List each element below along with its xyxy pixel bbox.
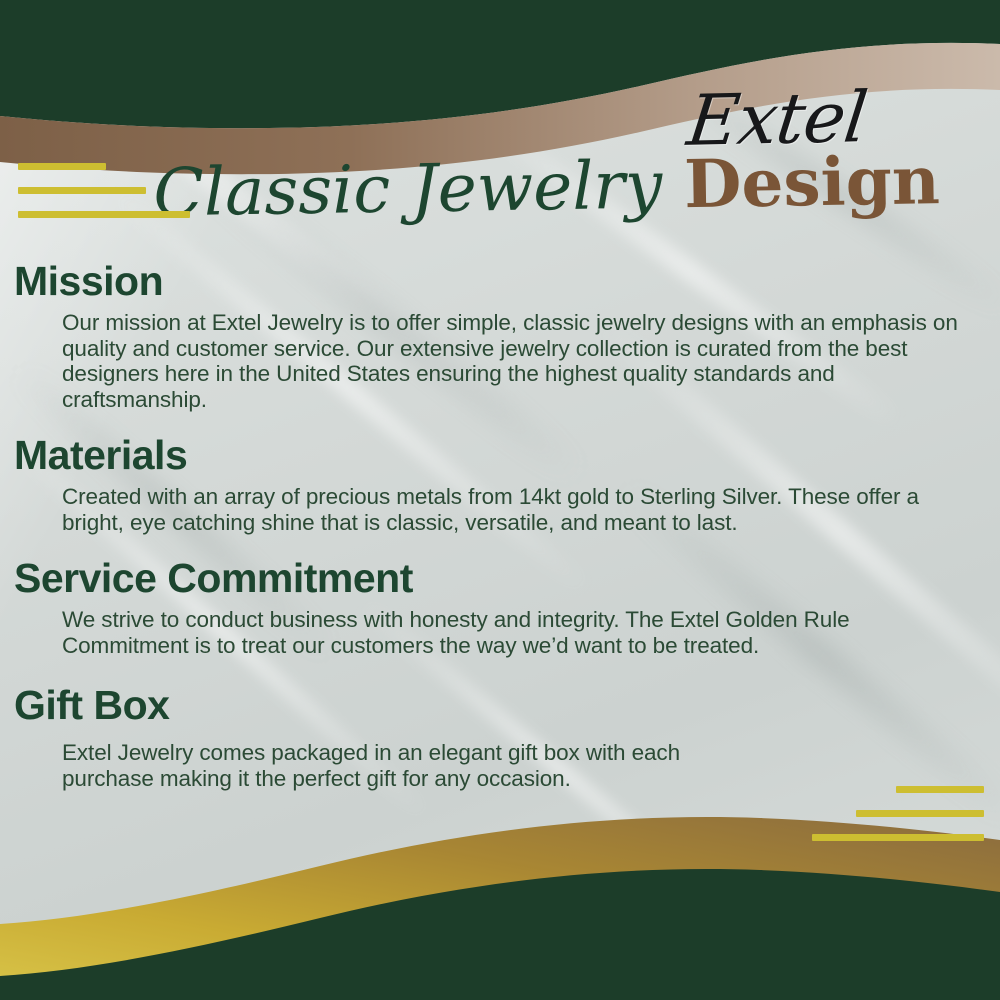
poster-canvas: Extel Classic Jewelry Design Mission Our… [0,0,1000,1000]
decorative-line [18,211,190,218]
section-body: Created with an array of precious metals… [62,484,980,535]
title-secondary: Design [684,145,941,219]
section-service-commitment: Service Commitment We strive to conduct … [0,553,1000,658]
section-body: Extel Jewelry comes packaged in an elega… [62,740,750,791]
section-materials: Materials Created with an array of preci… [0,430,1000,535]
section-body-text: Our mission at Extel Jewelry is to offer… [62,310,980,412]
section-body-text: We strive to conduct business with hones… [62,607,980,658]
section-mission: Mission Our mission at Extel Jewelry is … [0,256,1000,412]
section-heading: Gift Box [14,680,1000,730]
decorative-lines-top-left [18,163,190,218]
decorative-line [812,834,984,841]
section-body: Our mission at Extel Jewelry is to offer… [62,310,980,412]
section-heading: Mission [14,256,1000,306]
content-sections: Mission Our mission at Extel Jewelry is … [0,256,1000,809]
section-body: We strive to conduct business with hones… [62,607,980,658]
decorative-line [856,810,984,817]
section-body-text: Created with an array of precious metals… [62,484,980,535]
section-heading: Service Commitment [14,553,1000,603]
section-gift-box: Gift Box Extel Jewelry comes packaged in… [0,680,1000,791]
decorative-line [18,187,146,194]
title-primary: Classic Jewelry [153,150,663,228]
section-body-text: Extel Jewelry comes packaged in an elega… [62,740,750,791]
decorative-line [18,163,106,170]
section-heading: Materials [14,430,1000,480]
